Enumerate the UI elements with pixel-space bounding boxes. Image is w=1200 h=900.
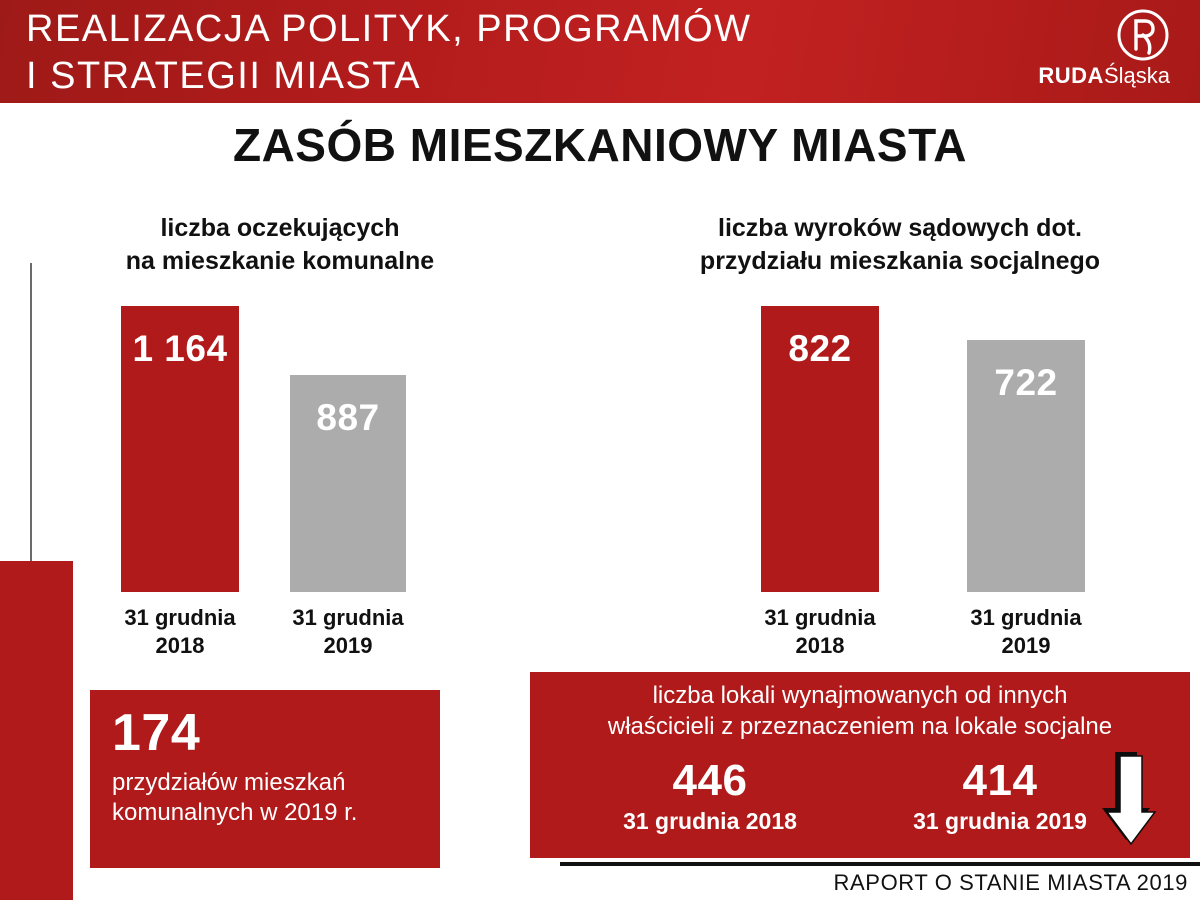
footer-divider <box>560 862 1200 866</box>
header-title: REALIZACJA POLITYK, PROGRAMÓW I STRATEGI… <box>26 6 926 100</box>
arrow-down-icon <box>1098 752 1160 850</box>
callout-left-caption: przydziałów mieszkań komunalnych w 2019 … <box>112 768 418 828</box>
header-banner: REALIZACJA POLITYK, PROGRAMÓW I STRATEGI… <box>0 0 1200 103</box>
chart-heading-oczekujacy: liczba oczekujących na mieszkanie komuna… <box>30 212 530 278</box>
callout-right-date-2018: 31 grudnia 2018 <box>570 806 850 836</box>
chart-axis-line <box>30 263 32 561</box>
chart-heading-wyroki: liczba wyroków sądowych dot. przydziału … <box>600 212 1200 278</box>
bar-oczekujacy-2019: 887 <box>290 375 406 592</box>
bar-wyroki-2018: 822 <box>761 306 879 592</box>
ruda-slaska-logo: RUDAŚląska <box>998 8 1178 96</box>
ruda-slaska-r-emblem-icon <box>1116 8 1170 62</box>
callout-right-heading: liczba lokali wynajmowanych od innych wł… <box>530 680 1190 742</box>
bar-label-oczekujacy-2019: 31 grudnia 2019 <box>269 604 427 660</box>
bar-label-oczekujacy-2018: 31 grudnia 2018 <box>101 604 259 660</box>
slide-root: REALIZACJA POLITYK, PROGRAMÓW I STRATEGI… <box>0 0 1200 900</box>
bar-label-wyroki-2018: 31 grudnia 2018 <box>741 604 899 660</box>
bar-value-wyroki-2019: 722 <box>967 362 1085 404</box>
footer-text: RAPORT O STANIE MIASTA 2019 <box>560 870 1188 896</box>
callout-przydzialy: 174 przydziałów mieszkań komunalnych w 2… <box>90 690 440 868</box>
left-edge-red-block <box>0 561 73 900</box>
logo-text-bold: RUDA <box>1038 63 1104 88</box>
bar-oczekujacy-2018: 1 164 <box>121 306 239 592</box>
bar-label-wyroki-2019: 31 grudnia 2019 <box>947 604 1105 660</box>
logo-wordmark: RUDAŚląska <box>1038 64 1170 88</box>
bar-value-oczekujacy-2019: 887 <box>290 397 406 439</box>
callout-left-value: 174 <box>112 704 418 762</box>
bar-wyroki-2019: 722 <box>967 340 1085 592</box>
callout-right-stat-2018: 446 31 grudnia 2018 <box>570 756 850 836</box>
bar-value-wyroki-2018: 822 <box>761 328 879 370</box>
page-title: ZASÓB MIESZKANIOWY MIASTA <box>0 118 1200 172</box>
bar-value-oczekujacy-2018: 1 164 <box>121 328 239 370</box>
callout-lokale-wynajmowane: liczba lokali wynajmowanych od innych wł… <box>530 672 1190 858</box>
logo-text-normal: Śląska <box>1104 63 1170 88</box>
callout-right-value-2018: 446 <box>570 756 850 806</box>
